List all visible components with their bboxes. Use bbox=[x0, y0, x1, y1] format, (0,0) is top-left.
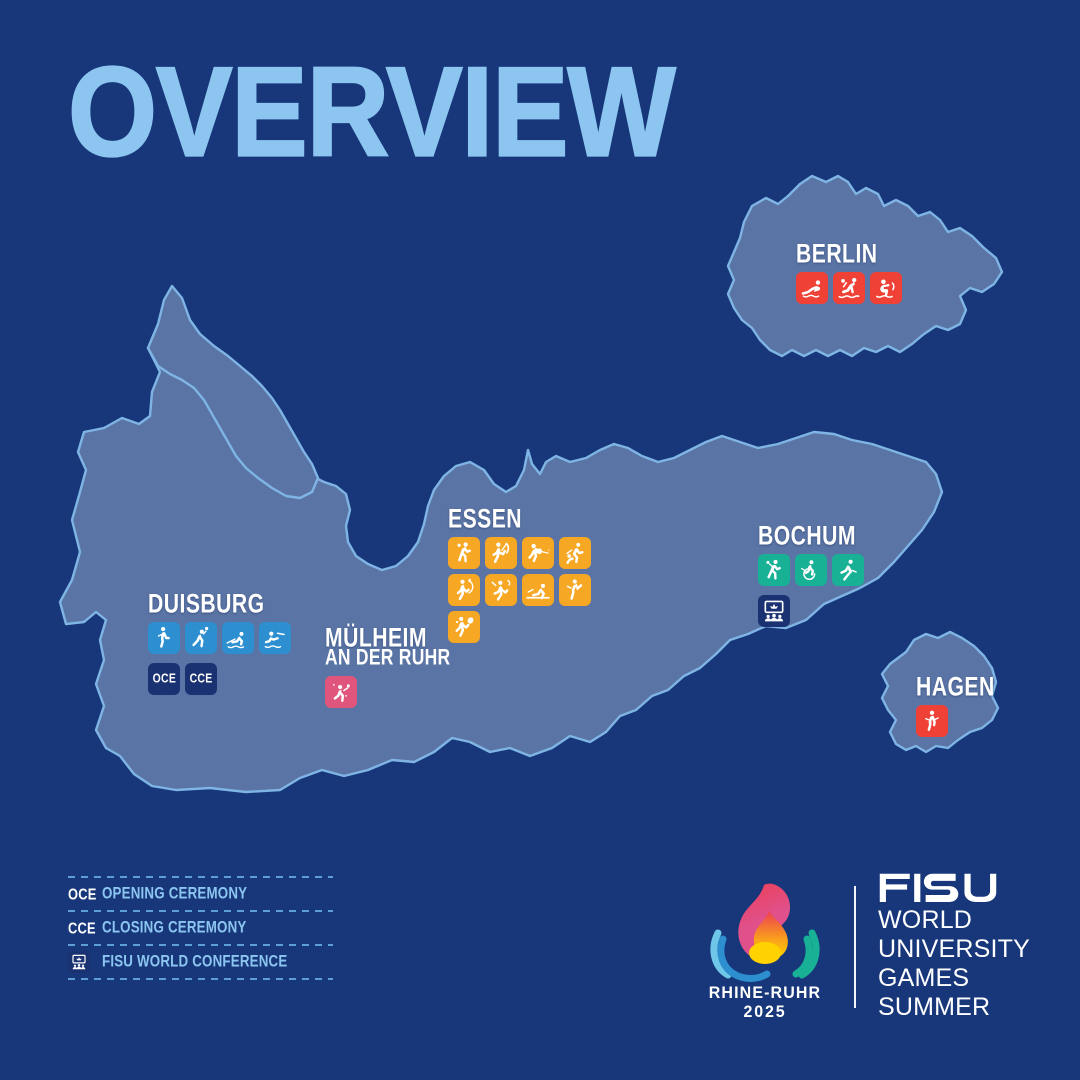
legend-row-conference: FISU WORLD CONFERENCE bbox=[68, 946, 333, 978]
sport-icon-badminton-icon[interactable] bbox=[485, 574, 517, 606]
sport-icon-swimming-icon[interactable] bbox=[259, 622, 291, 654]
sport-icon-athletics-icon[interactable] bbox=[832, 554, 864, 586]
fisu-line-games: GAMES bbox=[878, 964, 1030, 993]
legend-icon-wrap bbox=[68, 951, 102, 973]
legend: OCE OPENING CEREMONY CCE CLOSING CEREMON… bbox=[68, 876, 333, 980]
sport-icon-basketball-icon[interactable] bbox=[916, 705, 948, 737]
city-name-duisburg: DUISBURG bbox=[148, 590, 283, 618]
city-name-hagen: HAGEN bbox=[916, 673, 995, 701]
sport-icon-judo-icon[interactable] bbox=[559, 537, 591, 569]
sport-icons-essen bbox=[448, 537, 595, 643]
sport-icons-mulheim bbox=[325, 676, 361, 708]
city-block-hagen: HAGEN bbox=[916, 673, 1002, 737]
fisu-line-world: WORLD bbox=[878, 906, 1030, 935]
badge-oce[interactable]: OCE bbox=[148, 663, 180, 695]
sport-icon-rowing-icon[interactable] bbox=[795, 554, 827, 586]
sport-icon-rowing-boat-icon[interactable] bbox=[222, 622, 254, 654]
sport-icons-hagen bbox=[916, 705, 952, 737]
fisu-wordmark bbox=[878, 872, 1030, 902]
fisu-brand-block: WORLD UNIVERSITY GAMES SUMMER bbox=[878, 872, 1030, 1022]
city-subtitle-mulheim: AN DER RUHR bbox=[325, 647, 450, 670]
sport-icons-bochum bbox=[758, 554, 870, 586]
footer-divider bbox=[854, 886, 856, 1008]
sport-icon-artistic-swimming-icon[interactable] bbox=[870, 272, 902, 304]
sport-icon-basketball-3x3-icon[interactable] bbox=[448, 537, 480, 569]
city-block-bochum: BOCHUM bbox=[758, 522, 870, 627]
sport-icon-water-polo-icon[interactable] bbox=[185, 622, 217, 654]
city-name-berlin: BERLIN bbox=[796, 240, 899, 268]
city-name-essen: ESSEN bbox=[448, 505, 583, 533]
emblem-name-line1: RHINE-RUHR bbox=[695, 983, 836, 1003]
sport-icons-berlin bbox=[796, 272, 908, 304]
badges-duisburg: OCE CCE bbox=[148, 663, 295, 695]
sport-icon-volleyball-icon[interactable] bbox=[325, 676, 357, 708]
fisu-wordmark-graphic bbox=[878, 872, 1019, 902]
badge-oce-label: OCE bbox=[152, 673, 176, 687]
badges-bochum bbox=[758, 595, 794, 627]
poster-stage: OVERVIEW BERLIN ESSE bbox=[0, 0, 1080, 1080]
sport-icon-rhythmic-gymnastics-icon[interactable] bbox=[448, 574, 480, 606]
city-block-essen: ESSEN bbox=[448, 505, 595, 643]
sport-icon-taekwondo-icon[interactable] bbox=[559, 574, 591, 606]
emblem-graphic bbox=[690, 875, 840, 997]
city-block-berlin: BERLIN bbox=[796, 240, 908, 304]
fisu-conference-icon bbox=[68, 951, 90, 973]
legend-abbr-cce: CCE bbox=[68, 919, 99, 937]
sport-icon-artistic-gymnastics-icon[interactable] bbox=[522, 574, 554, 606]
emblem-name-line2: 2025 bbox=[695, 1002, 836, 1022]
badge-cce[interactable]: CCE bbox=[185, 663, 217, 695]
sport-icon-handball-icon[interactable] bbox=[758, 554, 790, 586]
legend-row-cce: CCE CLOSING CEREMONY bbox=[68, 912, 333, 944]
badge-cce-label: CCE bbox=[190, 673, 213, 687]
city-name-bochum: BOCHUM bbox=[758, 522, 861, 550]
sport-icons-duisburg bbox=[148, 622, 295, 654]
legend-divider bbox=[68, 978, 333, 980]
fisu-line-university: UNIVERSITY bbox=[878, 935, 1030, 964]
sport-icon-diving-icon[interactable] bbox=[148, 622, 180, 654]
legend-label-oce: OPENING CEREMONY bbox=[102, 885, 247, 903]
sport-icon-diving-icon[interactable] bbox=[796, 272, 828, 304]
city-block-duisburg: DUISBURG OCE CCE bbox=[148, 590, 295, 695]
legend-row-oce: OCE OPENING CEREMONY bbox=[68, 878, 333, 910]
footer-branding: RHINE-RUHR 2025 WORLD UNIVERSITY GAMES S… bbox=[690, 872, 1030, 1022]
rhine-ruhr-emblem: RHINE-RUHR 2025 bbox=[690, 875, 840, 1020]
sport-icon-water-polo-icon[interactable] bbox=[833, 272, 865, 304]
legend-abbr-oce: OCE bbox=[68, 885, 99, 903]
badge-fisu-conference-icon[interactable] bbox=[758, 595, 790, 627]
legend-label-conference: FISU WORLD CONFERENCE bbox=[102, 953, 287, 971]
fisu-line-summer: SUMMER bbox=[878, 993, 1030, 1022]
legend-label-cce: CLOSING CEREMONY bbox=[102, 919, 247, 937]
sport-icon-archery-icon[interactable] bbox=[485, 537, 517, 569]
sport-icon-fencing-icon[interactable] bbox=[522, 537, 554, 569]
city-block-mulheim: MÜLHEIM AN DER RUHR bbox=[325, 624, 461, 708]
